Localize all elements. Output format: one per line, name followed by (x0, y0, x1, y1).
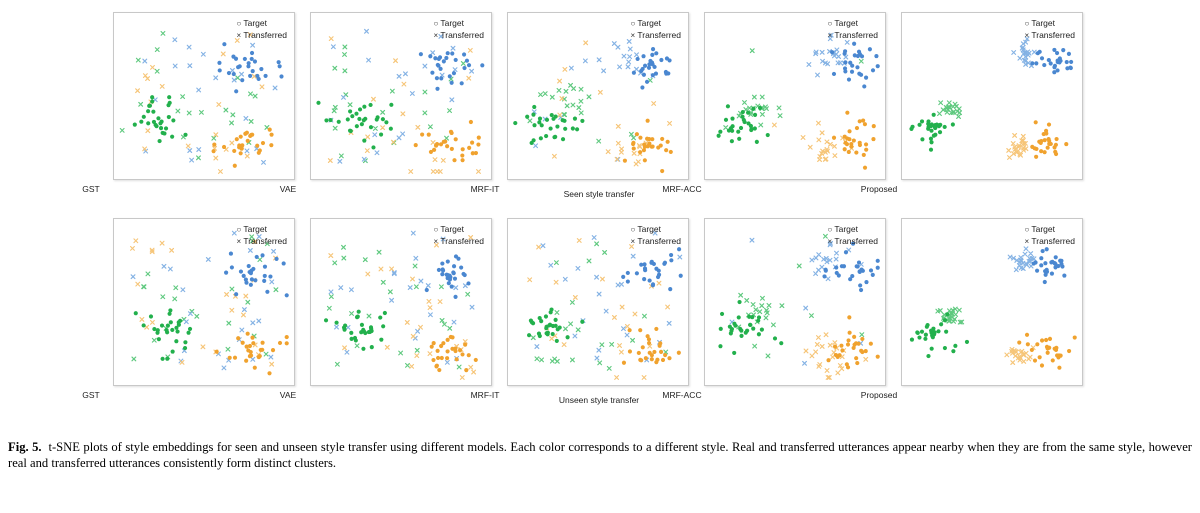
legend: ○Target ×Transferred (1022, 224, 1075, 247)
legend-label-transferred: Transferred (637, 236, 681, 246)
legend-label-target: Target (834, 224, 858, 234)
row-caption-unseen: Unseen style transfer (113, 395, 1085, 405)
legend-label-transferred: Transferred (243, 30, 287, 40)
legend-label-transferred: Transferred (440, 30, 484, 40)
figure-caption-text: t-SNE plots of style embeddings for seen… (8, 440, 1192, 470)
legend-label-target: Target (440, 18, 464, 28)
legend-entry-transferred: ×Transferred (1022, 236, 1075, 248)
legend-entry-target: ○Target (825, 224, 878, 236)
legend-entry-target: ○Target (431, 224, 484, 236)
legend: ○Target ×Transferred (234, 224, 287, 247)
legend-entry-transferred: ×Transferred (825, 236, 878, 248)
legend-entry-target: ○Target (234, 224, 287, 236)
plot-panel-vae-seen[interactable]: ○Target ×Transferred (310, 12, 492, 180)
legend-entry-transferred: ×Transferred (234, 30, 287, 42)
legend-entry-target: ○Target (628, 18, 681, 30)
figure-container: ○Target ×Transferred ○Target ×Transferre… (0, 0, 1200, 513)
legend-label-target: Target (243, 224, 267, 234)
legend: ○Target ×Transferred (1022, 18, 1075, 41)
figure-number: Fig. 5. (8, 440, 42, 454)
legend-entry-transferred: ×Transferred (1022, 30, 1075, 42)
legend-label-transferred: Transferred (243, 236, 287, 246)
legend-entry-target: ○Target (1022, 18, 1075, 30)
legend-label-target: Target (637, 224, 661, 234)
legend-label-target: Target (637, 18, 661, 28)
legend-label-target: Target (243, 18, 267, 28)
plot-panel-vae-unseen[interactable]: ○Target ×Transferred (310, 218, 492, 386)
legend-entry-transferred: ×Transferred (628, 30, 681, 42)
panel-row-unseen: ○Target ×Transferred ○Target ×Transferre… (113, 218, 1085, 386)
legend-entry-target: ○Target (431, 18, 484, 30)
legend-label-transferred: Transferred (1031, 236, 1075, 246)
legend-entry-target: ○Target (1022, 224, 1075, 236)
legend: ○Target ×Transferred (234, 18, 287, 41)
plot-panel-mrf-it-unseen[interactable]: ○Target ×Transferred (507, 218, 689, 386)
legend: ○Target ×Transferred (431, 224, 484, 247)
plot-panel-mrf-acc-unseen[interactable]: ○Target ×Transferred (704, 218, 886, 386)
legend-entry-transferred: ×Transferred (628, 236, 681, 248)
legend-label-transferred: Transferred (834, 236, 878, 246)
figure-caption: Fig. 5. t-SNE plots of style embeddings … (8, 440, 1192, 471)
legend-label-target: Target (440, 224, 464, 234)
legend-entry-transferred: ×Transferred (431, 236, 484, 248)
plot-panel-proposed-unseen[interactable]: ○Target ×Transferred (901, 218, 1083, 386)
legend-label-target: Target (834, 18, 858, 28)
plot-panel-proposed-seen[interactable]: ○Target ×Transferred (901, 12, 1083, 180)
legend-label-target: Target (1031, 224, 1055, 234)
row-caption-seen: Seen style transfer (113, 189, 1085, 199)
legend-entry-target: ○Target (628, 224, 681, 236)
legend: ○Target ×Transferred (431, 18, 484, 41)
legend-entry-transferred: ×Transferred (431, 30, 484, 42)
legend-label-transferred: Transferred (637, 30, 681, 40)
legend-label-target: Target (1031, 18, 1055, 28)
legend: ○Target ×Transferred (628, 224, 681, 247)
legend-entry-target: ○Target (234, 18, 287, 30)
legend: ○Target ×Transferred (825, 224, 878, 247)
legend-label-transferred: Transferred (440, 236, 484, 246)
plot-panel-mrf-acc-seen[interactable]: ○Target ×Transferred (704, 12, 886, 180)
legend-entry-target: ○Target (825, 18, 878, 30)
legend: ○Target ×Transferred (825, 18, 878, 41)
legend: ○Target ×Transferred (628, 18, 681, 41)
legend-label-transferred: Transferred (834, 30, 878, 40)
legend-entry-transferred: ×Transferred (825, 30, 878, 42)
legend-label-transferred: Transferred (1031, 30, 1075, 40)
plot-panel-gst-unseen[interactable]: ○Target ×Transferred (113, 218, 295, 386)
panel-row-seen: ○Target ×Transferred ○Target ×Transferre… (113, 12, 1085, 180)
legend-entry-transferred: ×Transferred (234, 236, 287, 248)
plot-panel-gst-seen[interactable]: ○Target ×Transferred (113, 12, 295, 180)
plot-panel-mrf-it-seen[interactable]: ○Target ×Transferred (507, 12, 689, 180)
